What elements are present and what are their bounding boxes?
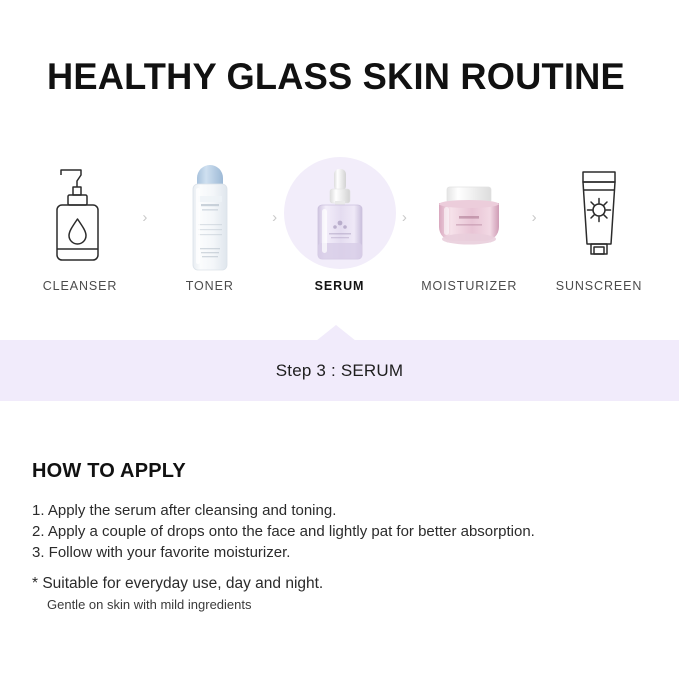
routine-step-toner[interactable]: TONER [154,150,266,293]
current-step-banner: Step 3 : SERUM [0,340,679,401]
how-to-apply-section: HOW TO APPLY 1. Apply the serum after cl… [32,460,652,563]
sunscreen-tube-icon [563,160,635,266]
cream-jar-icon [423,173,515,253]
moisturizer-art [413,150,525,275]
toner-art [154,150,266,275]
usage-note-primary: * Suitable for everyday use, day and nig… [32,573,652,595]
routine-step-moisturizer[interactable]: MOISTURIZER [413,150,525,293]
routine-step-cleanser[interactable]: CLEANSER [24,150,136,293]
serum-dropper-icon [302,157,378,269]
how-to-apply-heading: HOW TO APPLY [32,460,652,483]
routine-step-label: SUNSCREEN [556,279,643,293]
list-item: 1. Apply the serum after cleansing and t… [32,500,652,521]
sunscreen-art [543,150,655,275]
list-item: 3. Follow with your favorite moisturizer… [32,542,652,563]
usage-note: * Suitable for everyday use, day and nig… [32,573,652,615]
current-step-text: Step 3 : SERUM [276,361,404,381]
pump-bottle-icon [45,157,115,269]
cleanser-art [24,150,136,275]
step-separator-icon: › [142,210,147,225]
routine-step-label: SERUM [315,279,365,293]
routine-step-sunscreen[interactable]: SUNSCREEN [543,150,655,293]
usage-note-secondary: Gentle on skin with mild ingredients [32,595,652,615]
routine-step-label: CLEANSER [43,279,118,293]
list-item: 2. Apply a couple of drops onto the face… [32,521,652,542]
serum-art [284,150,396,275]
page-title: HEALTHY GLASS SKIN ROUTINE [47,56,625,98]
banner-pointer-notch [316,325,356,341]
how-to-apply-list: 1. Apply the serum after cleansing and t… [32,500,652,563]
routine-step-label: TONER [186,279,234,293]
toner-bottle-icon [174,152,246,274]
routine-steps: CLEANSER › [24,150,655,315]
step-separator-icon: › [402,210,407,225]
routine-step-label: MOISTURIZER [421,279,517,293]
routine-step-serum[interactable]: SERUM [284,150,396,293]
step-separator-icon: › [532,210,537,225]
step-separator-icon: › [272,210,277,225]
